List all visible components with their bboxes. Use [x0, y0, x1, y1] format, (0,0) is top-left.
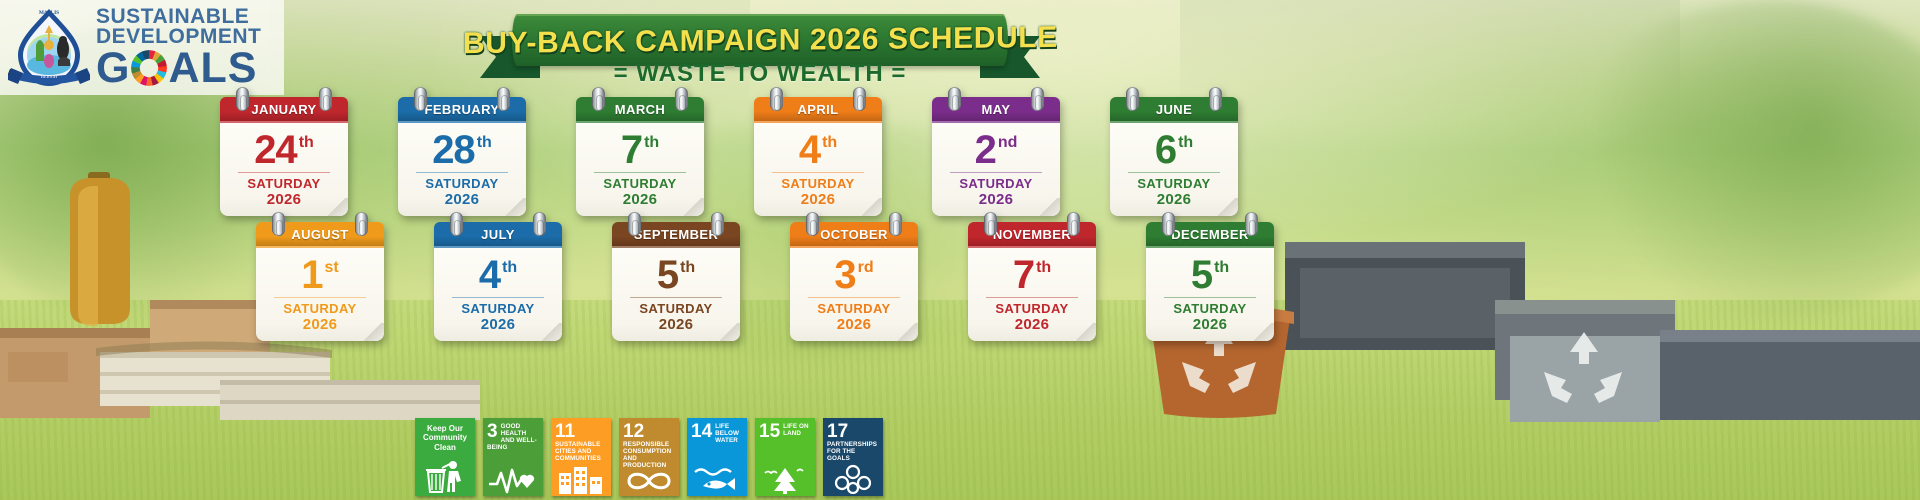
sdg-color-wheel-icon [131, 50, 167, 86]
calendar-weekday: SATURDAY [582, 176, 698, 191]
calendar-ring-right [355, 212, 368, 236]
cardboard-boxes-icon [0, 300, 270, 418]
calendar-day-number: 6 [1155, 131, 1176, 169]
calendar-card-july[interactable]: JULY4thSATURDAY2026 [434, 222, 562, 341]
calendar-divider [1128, 172, 1220, 173]
sdg-tile-keep-community-clean[interactable]: Keep Our Community Clean [415, 418, 475, 496]
calendar-row-second-half: AUGUST1stSATURDAY2026JULY4thSATURDAY2026… [256, 222, 1274, 341]
metal-bins-icon [1285, 242, 1920, 420]
sdg-goals-post: ALS [168, 47, 257, 90]
calendar-ring-left [272, 212, 285, 236]
calendar-divider [1164, 297, 1256, 298]
calendar-weekday: SATURDAY [440, 301, 556, 316]
calendar-weekday: SATURDAY [1116, 176, 1232, 191]
calendar-card-october[interactable]: OCTOBER3rdSATURDAY2026 [790, 222, 918, 341]
calendar-row-first-half: JANUARY24thSATURDAY2026FEBRUARY28thSATUR… [220, 97, 1238, 216]
sdg-tile-goal-15[interactable]: 15LIFE ON LAND [755, 418, 815, 496]
sdg-goals-row: G ALS [96, 47, 261, 90]
calendar-year: 2026 [226, 191, 342, 208]
sdg-tile-number: 12 [623, 422, 644, 441]
calendar-body: 4thSATURDAY2026 [754, 123, 882, 216]
sdg-tile-number: 3 [487, 422, 498, 441]
calendar-day-suffix: th [644, 134, 659, 152]
calendar-day-line: 1st [262, 254, 378, 295]
calendar-year: 2026 [796, 316, 912, 333]
sdg-tile-number: 17 [827, 422, 848, 441]
calendar-day-suffix: th [502, 259, 517, 277]
calendar-day-suffix: th [477, 134, 492, 152]
sdg-tile-number: 14 [691, 422, 712, 441]
calendar-weekday: SATURDAY [262, 301, 378, 316]
sdg-tile-goal-17[interactable]: 17PARTNERSHIPS FOR THE GOALS [823, 418, 883, 496]
sdg-tile-goal-14[interactable]: 14LIFE BELOW WATER [687, 418, 747, 496]
sdg-tile-number: 15 [759, 422, 780, 441]
calendar-day-line: 3rd [796, 254, 912, 295]
calendar-year: 2026 [440, 316, 556, 333]
calendar-day-number: 3 [834, 256, 855, 294]
svg-text:MAJLIS: MAJLIS [39, 10, 59, 16]
calendar-ring-right [1067, 212, 1080, 236]
calendar-body: 1stSATURDAY2026 [256, 248, 384, 341]
glass-bottle-icon [70, 172, 130, 326]
calendar-year: 2026 [974, 316, 1090, 333]
calendar-body: 28thSATURDAY2026 [398, 123, 526, 216]
calendar-body: 3rdSATURDAY2026 [790, 248, 918, 341]
calendar-day-line: 28th [404, 129, 520, 170]
calendar-day-line: 4th [440, 254, 556, 295]
city-buildings-icon [551, 464, 611, 494]
calendar-weekday: SATURDAY [796, 301, 912, 316]
calendar-ring-right [1031, 87, 1044, 111]
calendar-day-suffix: rd [858, 259, 874, 277]
calendar-divider [238, 172, 330, 173]
calendar-weekday: SATURDAY [618, 301, 734, 316]
calendar-ring-right [675, 87, 688, 111]
sdg-tile-goal-11[interactable]: 11SUSTAINABLE CITIES AND COMMUNITIES [551, 418, 611, 496]
calendar-divider [630, 297, 722, 298]
sdg-icon-strip: Keep Our Community Clean3GOOD HEALTH AND… [415, 418, 883, 496]
calendar-card-january[interactable]: JANUARY24thSATURDAY2026 [220, 97, 348, 216]
calendar-day-line: 7th [582, 129, 698, 170]
calendar-month-label: DECEMBER [1171, 227, 1249, 242]
calendar-day-suffix: th [1036, 259, 1051, 277]
sdg-tile-label: Keep Our Community Clean [419, 422, 471, 452]
calendar-divider [416, 172, 508, 173]
calendar-weekday: SATURDAY [1152, 301, 1268, 316]
calendar-body: 5thSATURDAY2026 [612, 248, 740, 341]
sdg-tile-goal-12[interactable]: 12RESPONSIBLE CONSUMPTION AND PRODUCTION [619, 418, 679, 496]
calendar-card-december[interactable]: DECEMBER5thSATURDAY2026 [1146, 222, 1274, 341]
calendar-ring-right [497, 87, 510, 111]
calendar-day-suffix: th [1214, 259, 1229, 277]
calendar-weekday: SATURDAY [226, 176, 342, 191]
calendar-day-line: 5th [1152, 254, 1268, 295]
calendar-day-number: 4 [799, 131, 820, 169]
calendar-ring-right [1209, 87, 1222, 111]
calendar-divider [452, 297, 544, 298]
calendar-body: 24thSATURDAY2026 [220, 123, 348, 216]
calendar-day-suffix: th [822, 134, 837, 152]
background-foliage-right [1560, 0, 1920, 320]
campaign-title: BUY-BACK CAMPAIGN 2026 SCHEDULE [463, 21, 1058, 61]
calendar-ring-left [236, 87, 249, 111]
campaign-banner: BUY-BACK CAMPAIGN 2026 SCHEDULE = WASTE … [480, 2, 1040, 94]
calendar-divider [274, 297, 366, 298]
calendar-year: 2026 [404, 191, 520, 208]
calendar-ring-left [414, 87, 427, 111]
calendar-weekday: SATURDAY [404, 176, 520, 191]
fish-waves-icon [687, 464, 747, 494]
calendar-card-september[interactable]: SEPTEMBER5thSATURDAY2026 [612, 222, 740, 341]
newspaper-stack-icon [96, 341, 480, 420]
calendar-month-label: NOVEMBER [993, 227, 1071, 242]
calendar-month-label: JUNE [1156, 102, 1192, 117]
recycle-panel-icon [1510, 332, 1660, 422]
calendar-month-label: MAY [982, 102, 1011, 117]
calendar-year: 2026 [760, 191, 876, 208]
calendar-ring-left [1162, 212, 1175, 236]
calendar-day-line: 4th [760, 129, 876, 170]
calendar-year: 2026 [618, 316, 734, 333]
calendar-body: 4thSATURDAY2026 [434, 248, 562, 341]
calendar-ring-right [319, 87, 332, 111]
calendar-year: 2026 [582, 191, 698, 208]
sdg-tile-number: 11 [555, 422, 575, 441]
calendar-day-suffix: nd [998, 134, 1018, 152]
calendar-body: 2ndSATURDAY2026 [932, 123, 1060, 216]
calendar-ring-left [806, 212, 819, 236]
infinity-loop-icon [619, 468, 679, 494]
calendar-month-label: FEBRUARY [425, 102, 500, 117]
calendar-month-label: JANUARY [251, 102, 316, 117]
calendar-day-number: 7 [621, 131, 642, 169]
calendar-day-number: 28 [432, 131, 475, 169]
sustainable-development-goals-logo: SUSTAINABLE DEVELOPMENT G ALS [96, 5, 261, 90]
calendar-day-number: 7 [1013, 256, 1034, 294]
calendar-weekday: SATURDAY [938, 176, 1054, 191]
sdg-tile-goal-3[interactable]: 3GOOD HEALTH AND WELL-BEING [483, 418, 543, 496]
linked-circles-icon [823, 464, 883, 494]
calendar-month-label: AUGUST [291, 227, 348, 242]
background-city-silhouette-right [1180, 0, 1680, 120]
calendar-day-number: 1 [301, 256, 322, 294]
calendar-ring-left [450, 212, 463, 236]
calendar-day-line: 2nd [938, 129, 1054, 170]
calendar-body: 7thSATURDAY2026 [968, 248, 1096, 341]
calendar-divider [772, 172, 864, 173]
calendar-day-suffix: th [299, 134, 314, 152]
calendar-day-number: 2 [975, 131, 996, 169]
calendar-weekday: SATURDAY [760, 176, 876, 191]
calendar-ring-left [770, 87, 783, 111]
calendar-card-june[interactable]: JUNE6thSATURDAY2026 [1110, 97, 1238, 216]
calendar-month-label: APRIL [798, 102, 839, 117]
calendar-year: 2026 [1152, 316, 1268, 333]
calendar-divider [950, 172, 1042, 173]
calendar-day-line: 5th [618, 254, 734, 295]
calendar-month-label: SEPTEMBER [634, 227, 719, 242]
calendar-ring-left [628, 212, 641, 236]
calendar-month-label: MARCH [615, 102, 665, 117]
campaign-subtitle: = WASTE TO WEALTH = [480, 60, 1040, 88]
calendar-day-number: 5 [1191, 256, 1212, 294]
header-logo-panel: MAJLIS BERSIH SUSTAINABLE DEVELOPMENT G … [0, 0, 284, 95]
calendar-ring-right [711, 212, 724, 236]
litter-bin-person-icon [415, 460, 475, 494]
calendar-card-march[interactable]: MARCH7thSATURDAY2026 [576, 97, 704, 216]
calendar-card-april[interactable]: APRIL4thSATURDAY2026 [754, 97, 882, 216]
calendar-day-number: 4 [479, 256, 500, 294]
calendar-year: 2026 [262, 316, 378, 333]
calendar-ring-right [889, 212, 902, 236]
calendar-year: 2026 [938, 191, 1054, 208]
svg-text:BERSIH: BERSIH [41, 74, 58, 79]
calendar-card-november[interactable]: NOVEMBER7thSATURDAY2026 [968, 222, 1096, 341]
ribbon-body: BUY-BACK CAMPAIGN 2026 SCHEDULE [512, 14, 1008, 66]
calendar-day-line: 6th [1116, 129, 1232, 170]
calendar-body: 6thSATURDAY2026 [1110, 123, 1238, 216]
calendar-ring-right [1245, 212, 1258, 236]
calendar-month-label: OCTOBER [820, 227, 888, 242]
calendar-divider [986, 297, 1078, 298]
calendar-ring-right [533, 212, 546, 236]
calendar-year: 2026 [1116, 191, 1232, 208]
tree-birds-icon [755, 464, 815, 494]
calendar-day-suffix: st [325, 259, 339, 277]
calendar-body: 5thSATURDAY2026 [1146, 248, 1274, 341]
calendar-day-number: 24 [254, 131, 297, 169]
calendar-ring-left [948, 87, 961, 111]
calendar-ring-right [853, 87, 866, 111]
calendar-day-line: 7th [974, 254, 1090, 295]
calendar-weekday: SATURDAY [974, 301, 1090, 316]
calendar-body: 7thSATURDAY2026 [576, 123, 704, 216]
calendar-day-suffix: th [680, 259, 695, 277]
heartbeat-icon [483, 468, 543, 494]
calendar-day-suffix: th [1178, 134, 1193, 152]
calendar-card-may[interactable]: MAY2ndSATURDAY2026 [932, 97, 1060, 216]
calendar-card-august[interactable]: AUGUST1stSATURDAY2026 [256, 222, 384, 341]
calendar-day-line: 24th [226, 129, 342, 170]
calendar-month-label: JULY [481, 227, 515, 242]
calendar-ring-left [984, 212, 997, 236]
sdg-goals-pre: G [96, 47, 130, 90]
calendar-divider [808, 297, 900, 298]
calendar-card-february[interactable]: FEBRUARY28thSATURDAY2026 [398, 97, 526, 216]
calendar-ring-left [1126, 87, 1139, 111]
calendar-divider [594, 172, 686, 173]
sdg-line-1: SUSTAINABLE [96, 7, 261, 27]
calendar-ring-left [592, 87, 605, 111]
calendar-day-number: 5 [657, 256, 678, 294]
majlis-bandaraya-miri-crest-icon: MAJLIS BERSIH [8, 5, 90, 91]
